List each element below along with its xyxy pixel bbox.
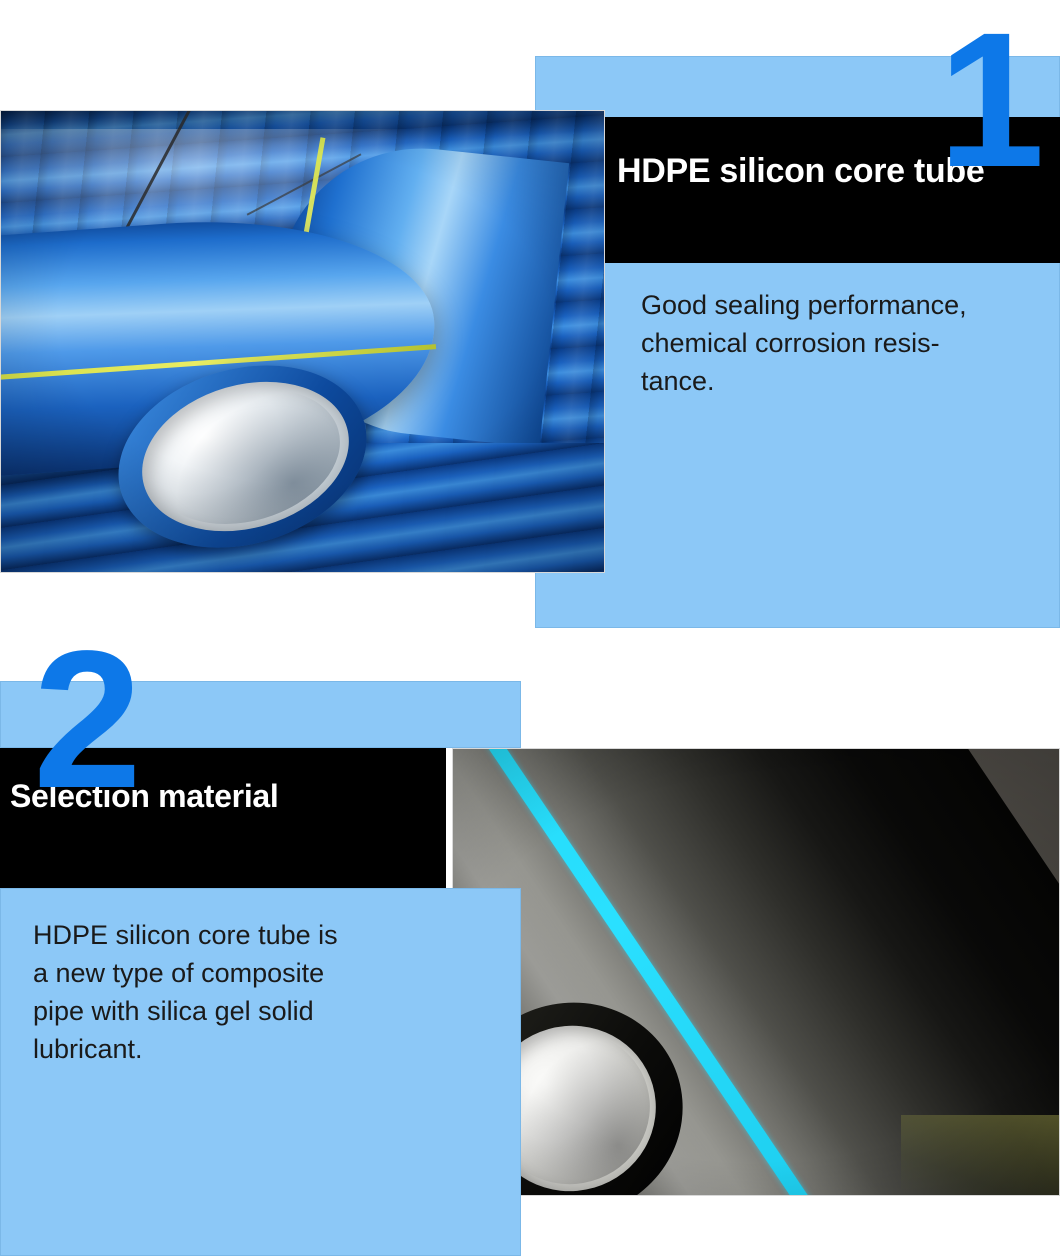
product-feature-poster: HDPE silicon core tube Good sealing perf… <box>0 0 1060 1260</box>
panel-1-body-line: Good sealing performance, <box>641 286 1045 324</box>
panel-2-body-line: a new type of composite <box>33 954 433 992</box>
panel-1-body-line: chemical corrosion resis- <box>641 324 1045 362</box>
panel-1-photo-content <box>1 111 604 572</box>
panel-1-body-line: tance. <box>641 362 1045 400</box>
panel-2-body-line: HDPE silicon core tube is <box>33 916 433 954</box>
panel-2-body-line: lubricant. <box>33 1030 433 1068</box>
panel-2-body-text: HDPE silicon core tube is a new type of … <box>33 916 433 1068</box>
panel-2-step-number: 2 <box>33 622 138 818</box>
panel-1-body-text: Good sealing performance, chemical corro… <box>641 286 1045 400</box>
panel-1-product-photo <box>0 110 605 573</box>
panel-1-heading: HDPE silicon core tube <box>617 152 984 191</box>
panel-2-photo-vignette <box>453 749 1059 1195</box>
panel-2-photo-content <box>453 749 1059 1195</box>
panel-1-photo-vignette <box>1 111 604 572</box>
panel-2-body-line: pipe with silica gel solid <box>33 992 433 1030</box>
panel-2-product-photo <box>452 748 1060 1196</box>
panel-1-step-number: 1 <box>938 4 1041 196</box>
